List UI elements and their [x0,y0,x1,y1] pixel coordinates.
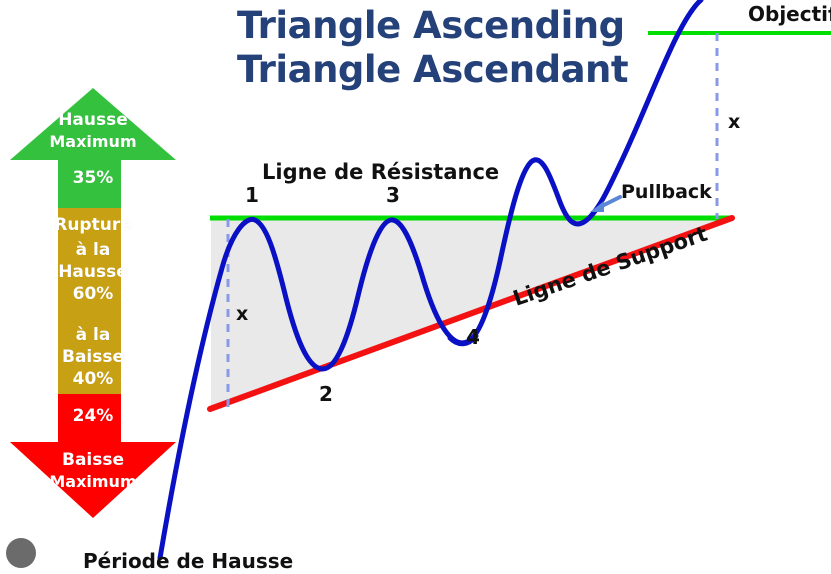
gauge-label-hausse: Hausse [0,110,186,130]
page-title-line-1: Triangle Ascending [237,4,625,47]
gauge-label-hausse-max: Maximum [0,132,186,151]
gauge-label-24-percent: 24% [0,406,186,426]
periode-hausse-label: Période de Hausse [83,549,293,573]
diagram-canvas: Triangle Ascending Triangle Ascendant Li… [0,0,831,574]
gauge-label-baisse-1: Baisse [0,347,186,367]
gauge-label-baisse-max-1: Baisse [0,450,186,470]
gauge-label-hausse-2: Hausse [0,262,186,282]
gauge-label-60-percent: 60% [0,284,186,304]
touch-point-1-label: 1 [245,183,259,207]
pullback-label: Pullback [621,181,712,203]
touch-point-4-label: 4 [466,325,480,349]
gauge-label-35-percent: 35% [0,168,186,188]
touch-point-2-label: 2 [319,382,333,406]
gauge-label-baisse-max-2: Maximum [0,472,186,491]
measure-x-left-label: x [236,303,248,325]
measure-x-right-label: x [728,111,740,133]
page-title-line-2: Triangle Ascendant [237,48,628,91]
gauge-label-rupture: Rupture [0,215,186,235]
resistance-line-label: Ligne de Résistance [262,160,499,184]
gauge-label-40-percent: 40% [0,369,186,389]
gauge-label-a-la-2: à la [0,325,186,345]
gauge-label-a-la-1: à la [0,240,186,260]
touch-point-3-label: 3 [386,183,400,207]
google-lens-button[interactable] [6,538,36,568]
objectif-label: Objectif [748,2,831,26]
